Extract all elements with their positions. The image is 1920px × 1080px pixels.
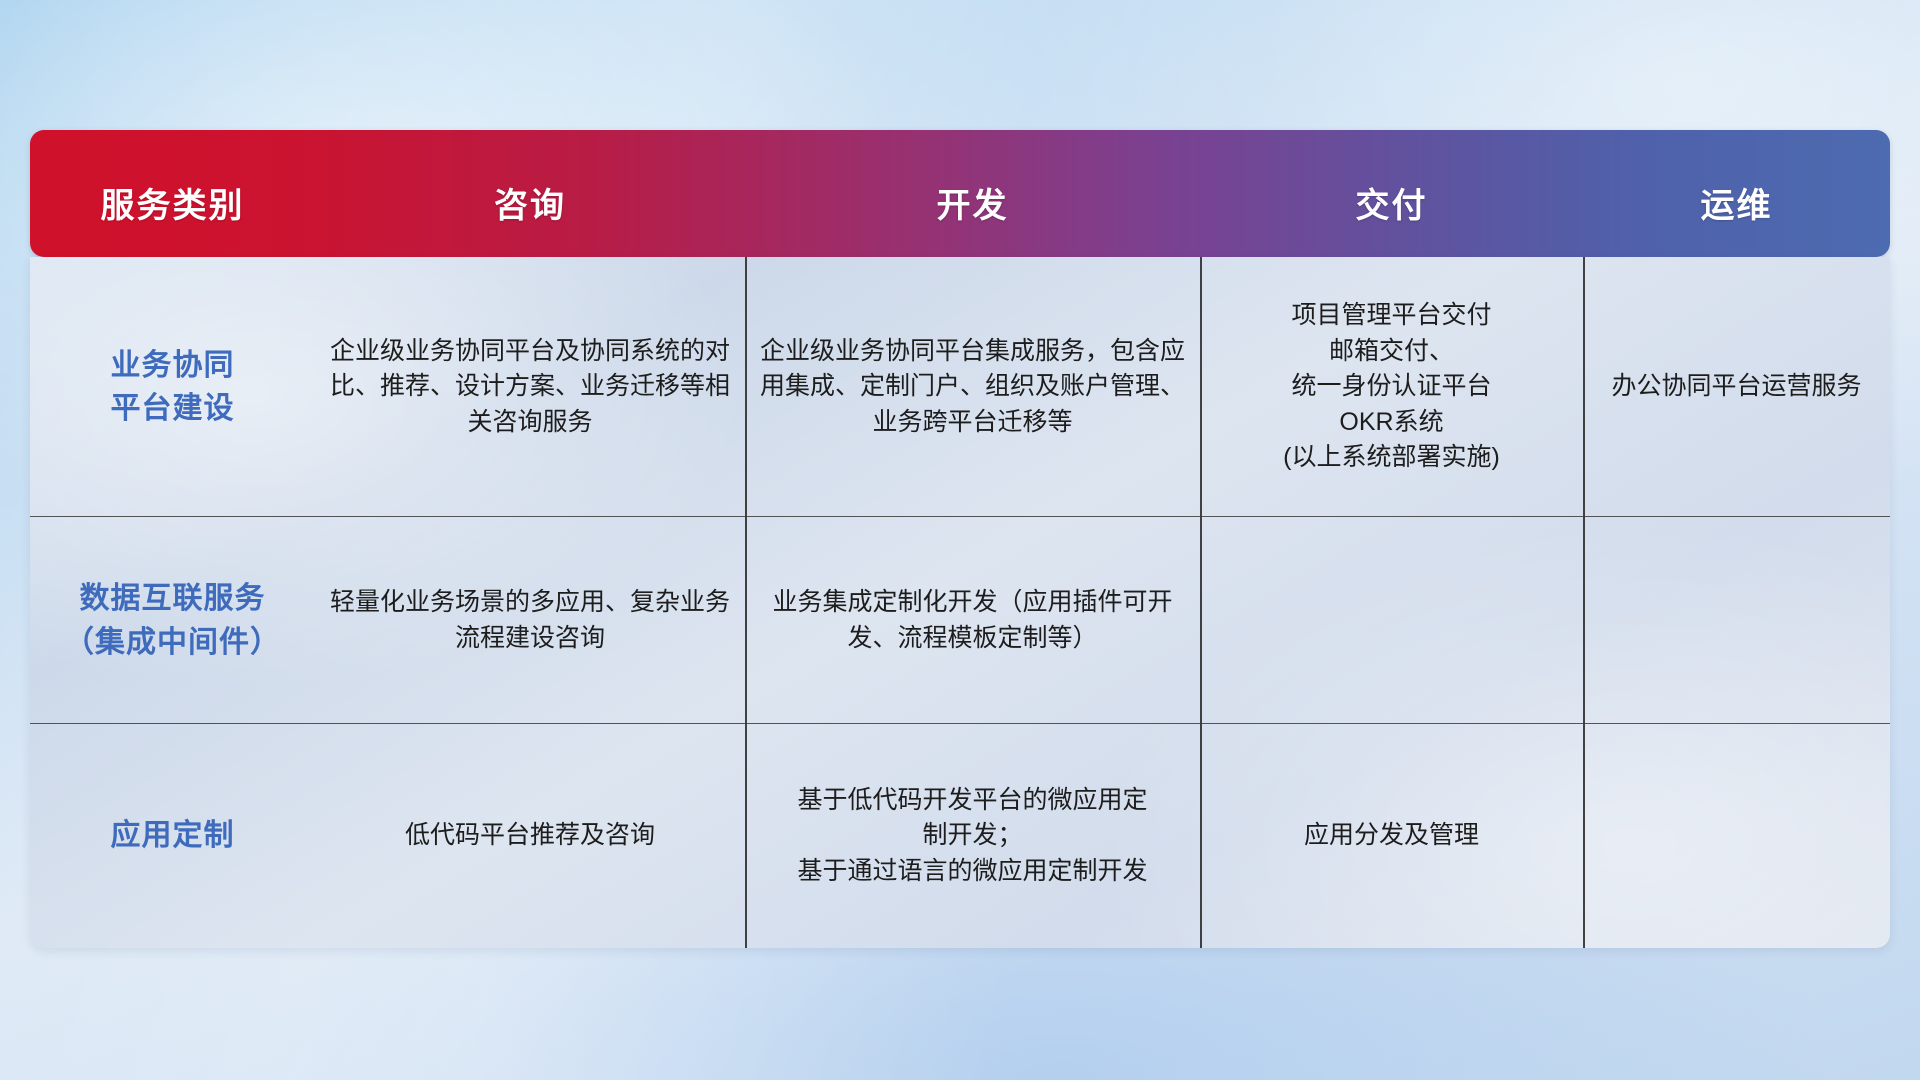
cell-delivery-row1: 项目管理平台交付 邮箱交付、 统一身份认证平台 OKR系统 (以上系统部署实施) <box>1200 257 1583 517</box>
delivery-line: 项目管理平台交付 <box>1291 301 1491 329</box>
delivery-line: (以上系统部署实施) <box>1283 443 1500 471</box>
table-row: 应用定制 低代码平台推荐及咨询 基于低代码开发平台的微应用定 制开发； 基于通过… <box>30 724 1890 948</box>
cell-operations-row2 <box>1583 517 1890 724</box>
development-line: 基于低代码开发平台的微应用定 <box>797 786 1147 814</box>
cell-delivery-row3: 应用分发及管理 <box>1200 724 1583 948</box>
table-row: 业务协同 平台建设 企业级业务协同平台及协同系统的对比、推荐、设计方案、业务迁移… <box>30 257 1890 517</box>
cell-category-row3: 应用定制 <box>30 724 315 948</box>
category-line: 应用定制 <box>111 814 235 858</box>
cell-category-row1: 业务协同 平台建设 <box>30 257 315 517</box>
column-header-operations: 运维 <box>1583 178 1890 257</box>
cell-category-row2: 数据互联服务 （集成中间件） <box>30 517 315 724</box>
cell-consulting-row1: 企业级业务协同平台及协同系统的对比、推荐、设计方案、业务迁移等相关咨询服务 <box>315 257 745 517</box>
column-header-delivery: 交付 <box>1200 178 1583 257</box>
delivery-line: OKR系统 <box>1339 408 1443 436</box>
cell-operations-row1: 办公协同平台运营服务 <box>1583 257 1890 517</box>
column-header-service-category: 服务类别 <box>30 178 315 257</box>
table-body: 业务协同 平台建设 企业级业务协同平台及协同系统的对比、推荐、设计方案、业务迁移… <box>30 257 1890 948</box>
cell-development-row1: 企业级业务协同平台集成服务，包含应用集成、定制门户、组织及账户管理、业务跨平台迁… <box>745 257 1200 517</box>
delivery-line: 统一身份认证平台 <box>1291 372 1491 400</box>
cell-development-row2: 业务集成定制化开发（应用插件可开发、流程模板定制等） <box>745 517 1200 724</box>
cell-consulting-row2: 轻量化业务场景的多应用、复杂业务流程建设咨询 <box>315 517 745 724</box>
category-line: （集成中间件） <box>64 626 281 659</box>
development-line: 基于通过语言的微应用定制开发 <box>797 857 1147 885</box>
category-line: 业务协同 <box>111 349 235 382</box>
development-line: 制开发； <box>922 821 1022 849</box>
column-header-development: 开发 <box>745 178 1200 257</box>
cell-development-row3: 基于低代码开发平台的微应用定 制开发； 基于通过语言的微应用定制开发 <box>745 724 1200 948</box>
cell-delivery-row2 <box>1200 517 1583 724</box>
category-line: 数据互联服务 <box>80 582 266 615</box>
table-header-row: 服务类别 咨询 开发 交付 运维 <box>30 130 1890 257</box>
category-line: 平台建设 <box>111 392 235 425</box>
service-matrix-table: 服务类别 咨询 开发 交付 运维 业务协同 平台建设 企业级业务协同平台及协同系… <box>30 130 1890 948</box>
cell-consulting-row3: 低代码平台推荐及咨询 <box>315 724 745 948</box>
cell-operations-row3 <box>1583 724 1890 948</box>
delivery-line: 邮箱交付、 <box>1329 337 1454 365</box>
table-row: 数据互联服务 （集成中间件） 轻量化业务场景的多应用、复杂业务流程建设咨询 业务… <box>30 517 1890 724</box>
column-header-consulting: 咨询 <box>315 178 745 257</box>
